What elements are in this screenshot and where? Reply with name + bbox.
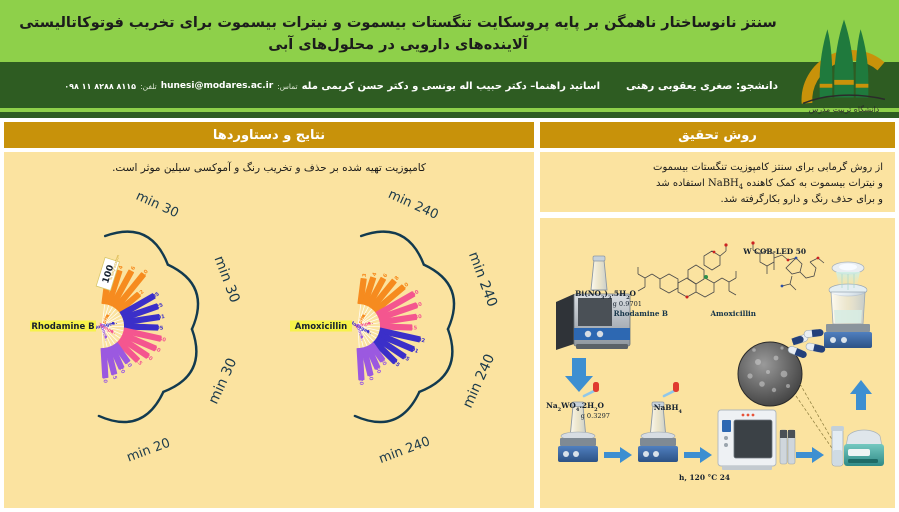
arrow-right-1-icon [604,447,632,463]
oven-icon [718,410,795,470]
poster-root: سنتز نانوساختار ناهمگن بر پایه پروسکایت … [0,0,899,512]
chart-brace-label: 30 min [211,254,243,305]
autoclave-tubes-icon [780,430,795,464]
chart-rhodamine-b: 34610120.050.0250.010.000550403015102015… [6,196,271,496]
arrow-up-icon [850,380,872,410]
chart-brace [168,265,198,330]
chart-brace [361,232,424,265]
chart-tick-label: 60 [373,366,382,375]
chart-tick-label: 15 [110,372,118,381]
university-logo-icon: دانشگاه تربیت مدرس [795,2,893,114]
svg-text:دانشگاه تربیت مدرس: دانشگاه تربیت مدرس [809,105,880,114]
chart-brace-label: 30 min [206,356,241,407]
method-line-2: و نیترات بیسموت به کمک کاهنده NaBH4 استف… [552,176,883,193]
contact-phone: ۰۹۸ ۱۱ ۸۲۸۸ ۸۱۱۵ [64,82,136,91]
chart-brace-label: 240 min [465,250,500,310]
contact-email[interactable]: hunesi@modares.ac.ir [161,81,274,91]
nabh4-formula: NaBH4 [708,176,743,193]
chart-tick-label: 0.05 [146,291,160,303]
method-panel: از روش گرمابی برای سنتز کامپوزیت تنگستات… [540,152,895,212]
chart-brace-label: 240 min [377,434,432,467]
collection-tube-icon [831,426,844,466]
chart-brace-label: 240 min [460,352,498,411]
chart-brace-label: 20 min [125,436,173,466]
centrifuge-icon [844,430,884,466]
photoreactor-icon [824,284,872,348]
chart-tick-label: 4 [118,265,125,271]
chart-tick-label: 10 [124,359,133,369]
chart-tick-label: 40 [414,301,423,309]
chart-brace [424,265,454,330]
chart-tick-label: 0.025 [147,302,165,313]
method-text: از روش گرمابی برای سنتز کامپوزیت تنگستات… [540,152,895,214]
results-caption: کامپوزیت تهیه شده بر حذف و تخریب رنگ و آ… [4,162,534,174]
amoxicillin-label: Amoxicillin [709,309,756,318]
supervisors-label: اساتید راهنما– دکتر حبیب اله یونسی و دکت… [302,81,600,92]
chart-tick-label: 4 [372,271,379,277]
chart-center-label: Rhodamine B [31,322,94,332]
rhodamine-b-label: Rhodamine B [614,309,668,318]
chart-brace [99,392,164,422]
chart-brace [163,329,196,392]
chart-tick-label: 0.01 [152,314,166,322]
stir-plate-1-icon [558,382,599,462]
sodium-tungstate-mass: 0.3297 g [581,412,610,420]
stir-plate-2-icon [638,382,679,462]
synthesis-diagram: Bi(NO3)3.5H2O 0.9701 g Na2WO4.2H2O [548,224,888,502]
authors-row: دانشجو: صغری یعقوبی رهنی اساتید راهنما– … [6,62,786,110]
chart-tick-label: 20 [357,378,363,386]
chart-tick-label: 0.02 [412,336,426,345]
chart-tick-label: 10 [141,268,150,278]
arrow-right-2-icon [684,447,712,463]
chart-tick-label: 30 [414,314,422,321]
method-section-bar: روش تحقیق [540,122,895,148]
results-bar-title: نتایج و دستاوردها [213,128,325,143]
method-line-1: از روش گرمابی برای سنتز کامپوزیت تنگستات… [552,160,883,176]
header-bottom-band [0,112,899,118]
method-line-2-b: استفاده شد [656,178,705,189]
bi-nitrate-mass: 0.9701 g [613,300,642,308]
chart-tick-label: 40 [152,346,161,355]
chart-amoxicillin: 346810504030150.020.010.0050.00258060402… [262,196,527,496]
chart-tick-label: 30 [144,353,154,362]
results-section-bar: نتایج و دستاوردها [4,122,534,148]
chart-tick-label: 10 [401,281,411,290]
chart-tick-label: 6 [382,272,389,278]
student-label: دانشجو: صغری یعقوبی رهنی [626,80,778,92]
rhodamine-b-structure-icon [638,245,736,297]
contact-label: تماس: [277,82,297,91]
method-line-3: و برای حذف رنگ و دارو بکارگرفته شد. [552,192,883,208]
chart-tick-label: 6 [130,265,137,271]
chart-tick-label: 3 [362,273,368,278]
chart-brace [355,392,420,422]
chart-tick-label: 50 [411,289,421,298]
supervisors-block: اساتید راهنما– دکتر حبیب اله یونسی و دکت… [64,81,600,92]
phone-label: تلفن: [140,82,157,91]
chart-tick-label: 0.0005 [143,325,164,332]
chart-tick-label: 15 [410,325,418,331]
arrow-down-icon [565,358,593,392]
title-line-2: آلاینده‌های دارویی در محلول‌های آبی [268,36,528,54]
chart-tick-label: 20 [117,366,126,375]
chart-tick-label: 50 [158,336,167,344]
chart-tick-label: 0.01 [405,344,419,355]
chart-tick-label: 12 [136,289,146,298]
oven-condition-label: 24 h, 120 °C [679,473,730,482]
method-line-2-a: و نیترات بیسموت به کمک کاهنده [746,178,883,189]
method-bar-title: روش تحقیق [678,128,757,143]
chart-tick-label: 40 [366,373,374,382]
poster-title: سنتز نانوساختار ناهمگن بر پایه پروسکایت … [18,6,778,62]
title-line-1: سنتز نانوساختار ناهمگن بر پایه پروسکایت … [19,14,777,32]
arrow-right-3-icon [796,447,824,463]
chart-center-label: Amoxicillin [295,322,347,332]
chart-tick-label: 15 [134,358,144,368]
chart-tick-label: 10 [101,376,107,384]
